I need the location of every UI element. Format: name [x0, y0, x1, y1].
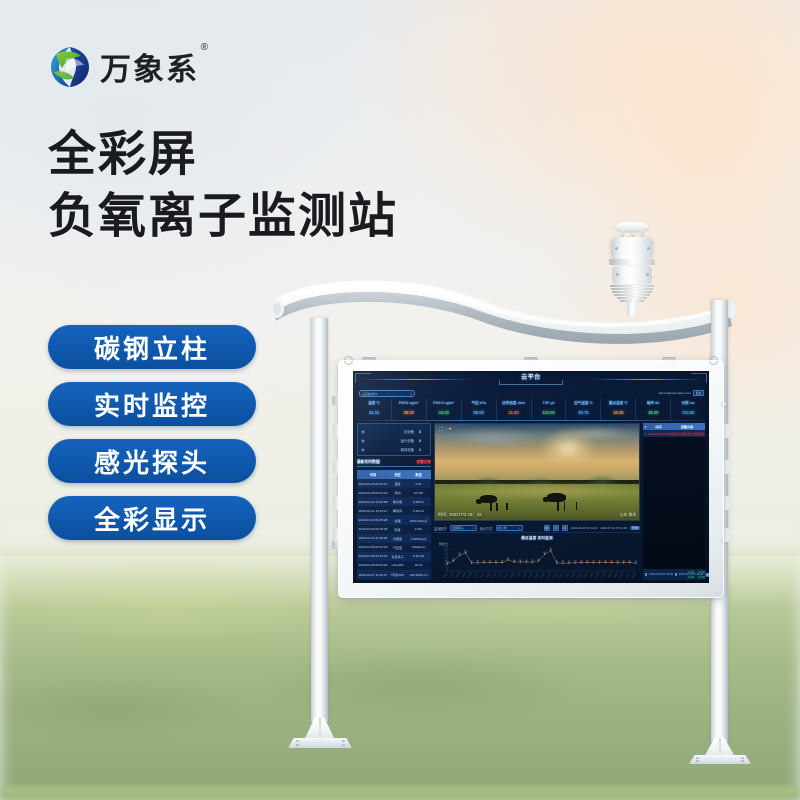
alarm-cell-time: 2022-04-20 09:18:28: [357, 527, 389, 531]
camera-field-highlight: [435, 484, 639, 499]
svg-text:11.2: 11.2: [635, 561, 638, 563]
hinge-loop-left: [344, 356, 353, 365]
camera-cloud-right: [553, 426, 635, 441]
bullet-icon: [362, 431, 364, 433]
svg-text:12.3: 12.3: [489, 560, 492, 562]
alarm-cell-value: 0.38mm: [406, 500, 431, 504]
table-row[interactable]: 2022-04-08 09:13:18气压值120a0mm: [357, 543, 431, 552]
alarm-cell-time: 2022-04-28 09:31:19: [357, 491, 389, 495]
svg-text:14.9: 14.9: [452, 559, 455, 561]
alarm-cell-time: 2022-04-21 16:10:11: [357, 509, 389, 513]
logout-button[interactable]: 退出: [693, 390, 704, 396]
alert-col-content: 报警内容: [669, 424, 705, 429]
feature-badge[interactable]: 碳钢立柱: [48, 325, 256, 369]
led-dashboard-screen[interactable]: 云平台 山东站点01 ▾ admin@wanxiang.com 退出 温度 ℃3…: [353, 371, 709, 583]
metric-value: 18.38: [601, 408, 635, 418]
weather-sensor-unit: [604, 222, 660, 312]
alarm-cell-type: 总辐: [389, 518, 406, 523]
svg-text:04-17 07: 04-17 07: [535, 572, 540, 578]
device-stat-row: 离线设备1: [362, 445, 426, 454]
camera-timestamp: 时间: 2022/T/3 16：42: [438, 512, 482, 518]
alarm-cell-value: 100.2836 µm: [406, 573, 431, 577]
svg-text:12.8: 12.8: [531, 560, 534, 562]
svg-text:13.0: 13.0: [513, 560, 516, 562]
alarm-cell-time: 2022-04-20 11:36:28: [357, 536, 389, 540]
table-row[interactable]: 2022-04-03 15:20:38土壤温湿度19.88%: [357, 579, 431, 580]
station-select[interactable]: 山东站点01 ▾: [359, 390, 415, 397]
registered-trademark-icon: ®: [201, 42, 210, 53]
alert-col-time: 时间: [648, 424, 669, 429]
table-row[interactable]: 2022-04-08 09:13:18负氧离子0.4hng/l: [357, 552, 431, 561]
feature-badge-label: 实时监控: [94, 386, 210, 423]
svg-text:04-29 07: 04-29 07: [608, 572, 613, 578]
account-area[interactable]: admin@wanxiang.com 退出: [659, 390, 704, 396]
brand-logo: 万象系 ®: [48, 44, 199, 89]
chevron-down-icon: ▾: [519, 527, 520, 530]
alarm-cell-value: 0.97: [406, 482, 431, 486]
chart-date-to[interactable]: 2022-07-01 07:11:00: [600, 526, 627, 530]
svg-text:04-22 07: 04-22 07: [565, 572, 570, 578]
bullet-icon: [362, 449, 364, 451]
svg-text:25: 25: [445, 554, 447, 556]
feature-badge[interactable]: 实时监控: [48, 382, 256, 426]
metric-cell: 露点温度 ℃18.38: [601, 399, 636, 421]
alarm-cell-time: 2022-04-07 11:02:47: [357, 573, 389, 577]
metric-cell: PM10 ug/m³58.00: [392, 399, 427, 421]
table-row[interactable]: 2022-04-28 09:31:19风向32.187: [357, 488, 431, 497]
alarm-records-link[interactable]: 报警记录: [417, 460, 431, 465]
metric-label: PM2.5 ug/m³: [427, 399, 461, 408]
alert-table-header: # 时间 报警内容: [643, 423, 705, 430]
metric-cell: 噪声 db48.00: [636, 399, 671, 421]
svg-text:04-30 07: 04-30 07: [614, 572, 619, 578]
svg-text:30: 30: [445, 550, 447, 552]
feature-badge-label: 碳钢立柱: [94, 329, 210, 366]
metric-label: 空气湿度 %: [566, 399, 600, 408]
metric-cell: 信号强度 dbm31.00: [497, 399, 532, 421]
table-row[interactable]: 2022-04-21 16:10:11瞬时风0.95m/s: [357, 506, 431, 515]
metric-value: 710.00: [671, 408, 705, 418]
bullet-icon: [362, 440, 364, 442]
station-select-value: 山东站点01: [362, 391, 377, 396]
alarm-cell-time: 2022-04-28 09:31:19: [357, 482, 389, 486]
alert-export-button[interactable]: 导出: [705, 573, 709, 577]
metric-label: 信号强度 dbm: [497, 399, 531, 408]
alarm-cell-type: voltaufl%: [389, 563, 406, 567]
svg-text:04-19 07: 04-19 07: [547, 572, 552, 578]
table-row[interactable]: 2022-04-20 11:36:28光照度0.0876lx/㎡: [357, 534, 431, 543]
metric-strip-underline: [357, 420, 705, 421]
svg-text:12.0: 12.0: [622, 561, 625, 563]
alarm-data-table[interactable]: 时间类型数值2022-04-28 09:31:19温度0.972022-04-2…: [357, 470, 431, 580]
dashboard-body: 总设备3运行设备2离线设备1 最新实时数据 报警记录 时间类型数值2022-04…: [357, 423, 705, 580]
feature-badge-label: 感光探头: [94, 443, 210, 480]
svg-text:11.7: 11.7: [470, 561, 473, 563]
device-stat-count: 3: [419, 430, 426, 434]
alarm-cell-type: 环境PM2: [389, 572, 406, 577]
led-readout-group: 0.000.00: [698, 570, 705, 579]
table-view-icon[interactable]: ▦: [544, 525, 550, 531]
feature-badge-label: 全彩显示: [94, 500, 210, 537]
svg-text:04-28 07: 04-28 07: [602, 572, 607, 578]
camera-control-icons[interactable]: ⛶ ⌖: [438, 426, 453, 432]
svg-text:12.1: 12.1: [598, 561, 601, 563]
svg-text:04-24 07: 04-24 07: [577, 572, 582, 578]
alarm-cell-type: 气压值: [389, 545, 406, 550]
alarm-cell-value: 0.0876lx/㎡: [406, 536, 431, 541]
device-stat-label: 运行设备: [366, 438, 419, 443]
metric-value: 99.00: [462, 408, 496, 418]
alert-date-from[interactable]: 2022-04-02 07:11:00: [649, 573, 673, 576]
center-column: ⛶ ⌖ 时间: 2022/T/3 16：42 山东 潍坊 监测因子 选择因子 ▾: [434, 423, 640, 580]
chart-field2-label: 统计方式: [480, 526, 493, 531]
alarm-cell-type: 降水量: [389, 499, 406, 504]
svg-text:04-16 07: 04-16 07: [529, 572, 534, 578]
svg-text:11.9: 11.9: [592, 561, 595, 563]
svg-text:13.1: 13.1: [525, 560, 528, 562]
metric-cell: TSP μ/l143.00: [532, 399, 567, 421]
bar-chart-icon[interactable]: ▥: [553, 525, 559, 531]
metric-value: 38.75: [566, 408, 600, 418]
metric-label: 露点温度 ℃: [601, 399, 635, 408]
metric-label: PM10 ug/m³: [392, 399, 426, 408]
svg-text:12.2: 12.2: [501, 560, 504, 562]
checkbox-icon[interactable]: [645, 573, 647, 576]
headline-block: 全彩屏 负氧离子监测站: [48, 124, 398, 248]
device-stat-label: 总设备: [366, 429, 419, 434]
alarm-column-header: 类型: [389, 472, 406, 477]
svg-text:16.1: 16.1: [507, 558, 510, 560]
feature-badge-list: 碳钢立柱实时监控感光探头全彩显示: [48, 325, 256, 540]
table-row[interactable]: 2022-04-20 09:45:28总辐0150.18w/㎡: [357, 515, 431, 524]
alarm-cell-value: 0.95m/s: [406, 509, 431, 513]
svg-text:04-02 07: 04-02 07: [444, 572, 449, 578]
svg-text:04-11 07: 04-11 07: [498, 572, 503, 578]
alarm-cell-type: 温度: [389, 481, 406, 486]
svg-text:12.4: 12.4: [604, 560, 607, 562]
svg-text:04-21 07: 04-21 07: [559, 572, 564, 578]
alarm-cell-value: 32.187: [406, 491, 431, 495]
camera-feed-panel[interactable]: ⛶ ⌖ 时间: 2022/T/3 16：42 山东 潍坊: [434, 423, 640, 521]
svg-text:04-26 07: 04-26 07: [589, 572, 594, 578]
alarm-cell-time: 2022-04-21 16:40:58: [357, 500, 389, 504]
alarm-panel-title: 最新实时数据: [357, 460, 380, 465]
dashboard-header: 云平台: [353, 371, 709, 388]
device-stat-row: 总设备3: [362, 427, 426, 436]
metric-label: 光照 lux: [671, 399, 705, 408]
checkbox-icon[interactable]: [675, 573, 677, 576]
svg-text:04-18 07: 04-18 07: [541, 572, 546, 578]
svg-text:26.4: 26.4: [464, 551, 467, 553]
alarm-cell-value: 18.70: [406, 563, 431, 567]
globe-swirl-logo-icon: [48, 45, 92, 89]
led-readout-group: 0.001.00: [688, 570, 695, 579]
headline-line-1: 全彩屏: [48, 124, 398, 186]
svg-text:04-23 07: 04-23 07: [571, 572, 576, 578]
support-post-left: [311, 318, 328, 722]
device-stat-count: 2: [419, 439, 426, 443]
svg-text:04-25 07: 04-25 07: [583, 572, 588, 578]
device-stats-box: 总设备3运行设备2离线设备1: [357, 423, 431, 456]
cabinet-lock-upper: [722, 402, 727, 407]
wave-canopy-roof: [268, 278, 738, 354]
alarm-cell-time: 2022-04-08 09:03:18: [357, 563, 389, 567]
snapshot-icon[interactable]: ⌖: [447, 426, 453, 432]
chart-toolbar[interactable]: 监测因子 选择因子 ▾ 统计方式 按小时 ▾ ▦ ▥ ▤ 2022-04-02 …: [434, 524, 640, 533]
svg-text:12.3: 12.3: [586, 560, 589, 562]
feature-badge[interactable]: 感光探头: [48, 439, 256, 483]
led-readout-line: 0.00: [698, 575, 705, 579]
svg-text:04-27 07: 04-27 07: [596, 572, 601, 578]
alarm-cell-type: 负氧离子: [389, 554, 406, 559]
alert-list-empty-area: [643, 437, 705, 569]
alarm-table-header: 时间类型数值: [357, 470, 431, 479]
svg-text:12.5: 12.5: [629, 560, 632, 562]
led-readout-line: 0.00: [688, 570, 695, 574]
svg-text:05-03 07: 05-03 07: [632, 572, 637, 578]
alarm-cell-value: 0.4hng/l: [406, 554, 431, 558]
table-row[interactable]: 2022-04-07 11:02:47环境PM2100.2836 µm: [357, 570, 431, 579]
chevron-down-icon: ▾: [410, 392, 412, 396]
alert-row[interactable]: 1 2022-04-28 09:31:19 负氧离子浓度 低于设定阈值 报警: [643, 430, 705, 437]
alarm-column-header: 数值: [406, 472, 431, 477]
camera-cloud-left: [447, 428, 541, 447]
svg-text:05-02 07: 05-02 07: [626, 572, 631, 578]
svg-text:05-01 07: 05-01 07: [620, 572, 625, 578]
svg-text:12.2: 12.2: [610, 560, 613, 562]
metric-label: TSP μ/l: [532, 399, 566, 408]
brand-name: 万象系 ®: [100, 44, 199, 89]
metric-cell: 光照 lux710.00: [671, 399, 705, 421]
svg-text:24.2: 24.2: [543, 552, 546, 554]
metric-cell: 气压 kPa99.00: [462, 399, 497, 421]
metric-cell: 空气湿度 %38.75: [566, 399, 601, 421]
device-stat-count: 1: [419, 448, 426, 452]
alarm-cell-time: 2022-04-20 09:45:28: [357, 518, 389, 522]
svg-text:40: 40: [445, 543, 447, 545]
svg-text:14.6: 14.6: [537, 559, 540, 561]
table-row[interactable]: 2022-04-08 09:03:18voltaufl%18.70: [357, 561, 431, 570]
sensor-mount-stem: [627, 302, 638, 316]
alarm-cell-value: 120a0mm: [406, 545, 431, 549]
camera-location-label: 山东 潍坊: [620, 513, 636, 518]
chevron-down-icon: ▾: [473, 527, 474, 530]
alarm-cell-time: 2022-04-08 09:13:18: [357, 554, 389, 558]
svg-text:04-12 07: 04-12 07: [504, 572, 509, 578]
svg-text:10: 10: [445, 564, 447, 566]
svg-text:20: 20: [445, 557, 447, 559]
feature-badge[interactable]: 全彩显示: [48, 496, 256, 540]
led-readout-line: 0.00: [698, 570, 705, 574]
right-alert-panel: # 时间 报警内容 1 2022-04-28 09:31:19 负氧离子浓度 低…: [643, 423, 705, 580]
metric-value: 44.00: [427, 408, 461, 418]
svg-text:04-04 07: 04-04 07: [456, 572, 461, 578]
svg-text:13.2: 13.2: [519, 560, 522, 562]
alarm-cell-type: 瞬时风: [389, 508, 406, 513]
svg-text:04-03 07: 04-03 07: [450, 572, 455, 578]
table-row[interactable]: 2022-04-21 16:40:58降水量0.38mm: [357, 497, 431, 506]
metric-value: 48.00: [636, 408, 670, 418]
metric-label: 气压 kPa: [462, 399, 496, 408]
alarm-cell-value: 2.0hn: [406, 527, 431, 531]
alarm-cell-type: 雨量: [389, 527, 406, 532]
svg-text:11.5: 11.5: [568, 561, 571, 563]
svg-text:11.4: 11.4: [562, 561, 565, 563]
svg-text:04-08 07: 04-08 07: [480, 572, 485, 578]
svg-text:04-10 07: 04-10 07: [492, 572, 497, 578]
svg-text:0: 0: [446, 571, 447, 573]
svg-text:11.8: 11.8: [574, 561, 577, 563]
svg-text:04-14 07: 04-14 07: [516, 572, 521, 578]
metric-value: 58.00: [392, 408, 426, 418]
table-row[interactable]: 2022-04-20 09:18:28雨量2.0hn: [357, 525, 431, 534]
svg-text:22.6: 22.6: [458, 553, 461, 555]
svg-text:5: 5: [446, 567, 447, 569]
chart-plot-area: 403530252015105010.514.922.626.411.711.8…: [434, 541, 640, 580]
device-stat-row: 运行设备2: [362, 436, 426, 445]
alarm-cell-type: 风向: [389, 490, 406, 495]
metric-value: 143.00: [532, 408, 566, 418]
svg-text:04-06 07: 04-06 07: [468, 572, 473, 578]
metric-cell: PM2.5 ug/m³44.00: [427, 399, 462, 421]
chart-query-button[interactable]: 查询: [630, 526, 640, 530]
metric-label: 温度 ℃: [357, 399, 391, 408]
account-name: admin@wanxiang.com: [659, 391, 691, 395]
svg-text:04-15 07: 04-15 07: [523, 572, 528, 578]
hinge-loop-right: [709, 356, 718, 365]
svg-text:04-09 07: 04-09 07: [486, 572, 491, 578]
metric-value: 31.00: [497, 408, 531, 418]
device-stat-label: 离线设备: [366, 447, 419, 452]
dashboard-title: 云平台: [353, 372, 709, 381]
headline-line-2: 负氧离子监测站: [48, 186, 398, 248]
alarm-cell-value: 0150.18w/㎡: [406, 518, 431, 523]
metric-label: 噪声 db: [636, 399, 670, 408]
svg-text:04-20 07: 04-20 07: [553, 572, 558, 578]
svg-text:04-13 07: 04-13 07: [510, 572, 515, 578]
alarm-panel-header: 最新实时数据 报警记录: [357, 459, 431, 467]
chart-date-from[interactable]: 2022-04-02 07:11:00: [571, 526, 598, 530]
chart-factor-select[interactable]: 选择因子 ▾: [450, 525, 477, 531]
alarm-column-header: 时间: [357, 472, 389, 477]
fullscreen-icon[interactable]: ⛶: [438, 426, 444, 432]
metric-cell: 温度 ℃34.32: [357, 399, 392, 421]
led-status-readouts: 0.001.000.000.00: [688, 570, 705, 579]
metric-value: 34.32: [357, 408, 391, 418]
svg-text:12.0: 12.0: [580, 561, 583, 563]
svg-text:04-07 07: 04-07 07: [474, 572, 479, 578]
svg-text:04-05 07: 04-05 07: [462, 572, 467, 578]
svg-text:35: 35: [445, 547, 447, 549]
svg-text:11.8: 11.8: [616, 561, 619, 563]
svg-text:11.8: 11.8: [477, 561, 480, 563]
sensor-metric-strip: 温度 ℃34.32PM10 ug/m³58.00PM2.5 ug/m³44.00…: [357, 399, 705, 421]
chart-field1-label: 监测因子: [434, 526, 447, 531]
svg-text:29.3: 29.3: [549, 549, 552, 551]
export-icon[interactable]: ▤: [562, 525, 568, 531]
table-row[interactable]: 2022-04-28 09:31:19温度0.97: [357, 479, 431, 488]
trend-chart-panel: 最近温度 实时监测 数值(℃) 403530252015105010.514.9…: [434, 536, 640, 580]
svg-text:12.0: 12.0: [483, 561, 486, 563]
svg-text:11.9: 11.9: [495, 561, 498, 563]
led-readout-line: 1.00: [688, 575, 695, 579]
alarm-cell-type: 光照度: [389, 536, 406, 541]
alarm-cell-time: 2022-04-08 09:13:18: [357, 545, 389, 549]
left-sidebar: 总设备3运行设备2离线设备1 最新实时数据 报警记录 时间类型数值2022-04…: [357, 423, 431, 580]
chart-interval-select[interactable]: 按小时 ▾: [496, 525, 523, 531]
